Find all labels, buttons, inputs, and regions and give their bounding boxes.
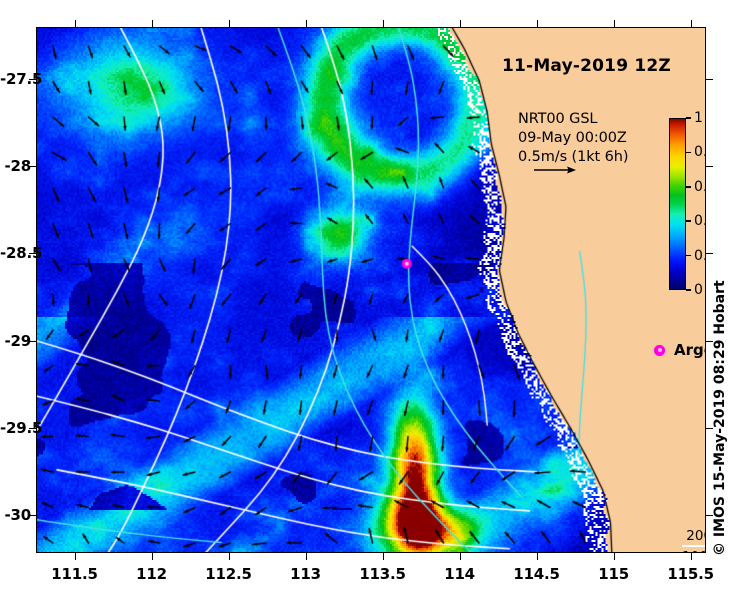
x-axis-label: 111.5 [51, 565, 97, 583]
y-axis-label: -27.5 [0, 70, 31, 88]
x-tick [306, 20, 307, 27]
x-tick [229, 553, 230, 560]
x-axis-label: 113 [290, 565, 321, 583]
x-axis-label: 113.5 [359, 565, 405, 583]
x-axis-label: 112 [136, 565, 167, 583]
depth-key-shallow-rule [682, 545, 706, 547]
y-axis-label: -28.5 [0, 244, 31, 262]
depth-key-deep: 1000m [682, 549, 706, 553]
copyright-credit: © IMOS 15-May-2019 08:29 Hobart [712, 280, 728, 556]
x-tick [537, 20, 538, 27]
x-tick [229, 20, 230, 27]
x-tick [75, 553, 76, 560]
x-tick [614, 20, 615, 27]
y-tick [706, 253, 713, 254]
x-tick [152, 553, 153, 560]
x-tick [306, 553, 307, 560]
map-overlays [37, 28, 706, 553]
bathymetry-depth-key: 200m 1000m [682, 528, 706, 553]
x-tick [152, 20, 153, 27]
vector-scale-arrow-icon [534, 165, 576, 175]
plot-title: 11-May-2019 12Z [502, 56, 671, 76]
argo-float-marker-icon [654, 345, 665, 356]
annotation-block: NRT00 GSL 09-May 00:00Z 0.5m/s (1kt 6h) [518, 110, 628, 167]
map-plot-area[interactable]: 11-May-2019 12Z NRT00 GSL 09-May 00:00Z … [36, 27, 706, 553]
x-axis-label: 115 [598, 565, 629, 583]
y-axis-label: -28 [0, 157, 31, 175]
argo-legend: Argo [654, 341, 706, 359]
colorbar-gradient [669, 118, 686, 290]
x-tick [614, 553, 615, 560]
colorbar-tick-label: 0 [694, 282, 703, 298]
x-tick [460, 553, 461, 560]
x-tick [383, 20, 384, 27]
colorbar-tick [686, 117, 691, 119]
x-tick [383, 553, 384, 560]
colorbar-tick [686, 289, 691, 291]
colorbar-tick-label: 0.6 [694, 179, 706, 195]
y-axis-label: -29 [0, 332, 31, 350]
colorbar-tick [686, 255, 691, 257]
x-tick [75, 20, 76, 27]
x-tick [537, 553, 538, 560]
y-tick [706, 79, 713, 80]
depth-key-shallow: 200m [682, 528, 706, 547]
colorbar-tick [686, 220, 691, 222]
figure-root: 11-May-2019 12Z NRT00 GSL 09-May 00:00Z … [0, 0, 739, 592]
argo-legend-label: Argo [674, 341, 706, 359]
x-axis-label: 115.5 [667, 565, 713, 583]
colorbar-tick [686, 186, 691, 188]
x-tick [691, 20, 692, 27]
colorbar-tick-label: 0.4 [694, 213, 706, 229]
y-tick [706, 166, 713, 167]
annotation-line-1: NRT00 GSL [518, 110, 628, 129]
x-axis-label: 114.5 [513, 565, 559, 583]
x-tick [460, 20, 461, 27]
colorbar-tick-label: 1 [694, 110, 703, 126]
colorbar-tick-label: 0.8 [694, 144, 706, 160]
x-axis-label: 114 [444, 565, 475, 583]
x-tick [691, 553, 692, 560]
colorbar-tick-label: 0.2 [694, 248, 706, 264]
depth-key-shallow-label: 200m [686, 528, 706, 544]
depth-key-deep-label: 1000m [682, 549, 706, 553]
x-axis-label: 112.5 [205, 565, 251, 583]
y-axis-label: -30 [0, 506, 31, 524]
colorbar-tick [686, 152, 691, 154]
y-axis-label: -29.5 [0, 419, 31, 437]
annotation-line-2: 09-May 00:00Z [518, 129, 628, 148]
